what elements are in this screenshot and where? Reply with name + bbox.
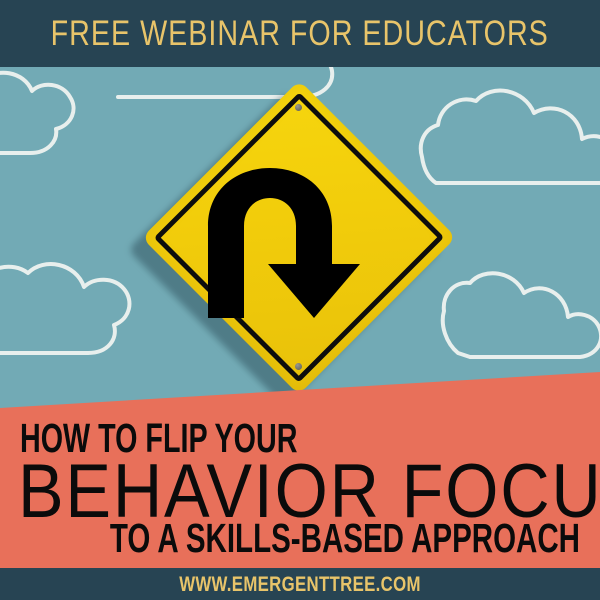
u-turn-arrow-icon [204, 168, 394, 318]
sign-bolt-top-icon [295, 104, 302, 111]
webinar-promo-poster: FREE WEBINAR FOR EDUCATORS HOW TO FLIP Y… [0, 0, 600, 600]
top-banner-text: FREE WEBINAR FOR EDUCATORS [51, 16, 549, 51]
footer-website-url: WWW.EMERGENTTREE.COM [179, 574, 421, 595]
headline-line-3: TO A SKILLS-BASED APPROACH [110, 518, 580, 559]
cloud-mid-left-icon [0, 264, 129, 353]
footer-bar: WWW.EMERGENTTREE.COM [0, 568, 600, 600]
cloud-top-left-icon [0, 73, 74, 153]
sign-bolt-bottom-icon [295, 363, 302, 370]
cloud-bottom-right-icon [443, 273, 600, 357]
headline-block: HOW TO FLIP YOUR BEHAVIOR FOCUS TO A SKI… [0, 410, 600, 560]
u-turn-sign [142, 80, 456, 395]
top-banner: FREE WEBINAR FOR EDUCATORS [0, 0, 600, 67]
